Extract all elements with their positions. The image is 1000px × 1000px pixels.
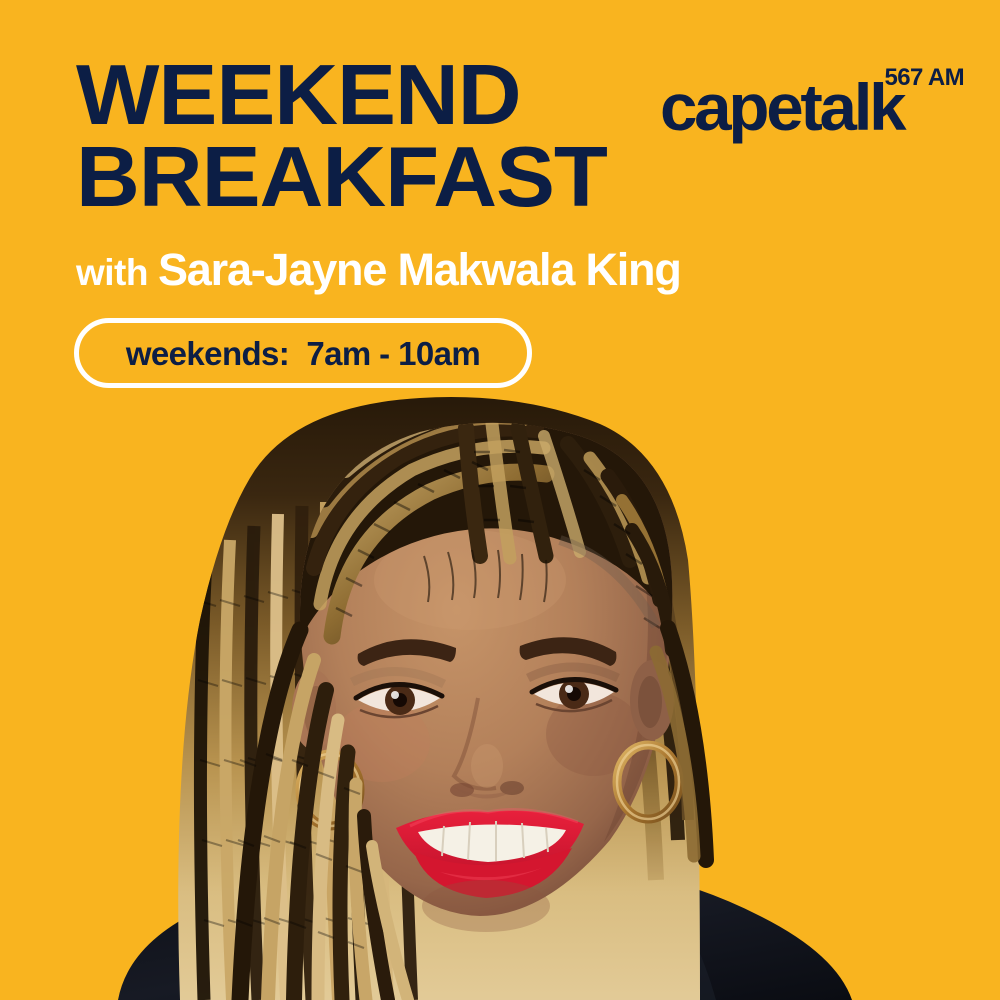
- host-name: Sara-Jayne Makwala King: [158, 247, 681, 292]
- poster-canvas: capetalk 567 AM WEEKEND BREAKFAST withSa…: [0, 0, 1000, 1000]
- hair-back: [170, 380, 710, 1000]
- show-title-line-1: WEEKEND: [76, 55, 607, 137]
- host-credit: withSara-Jayne Makwala King: [76, 247, 681, 292]
- blazer: [118, 864, 852, 1000]
- earring-hoop-left: [300, 754, 360, 826]
- nose: [450, 698, 524, 799]
- ear-left: [292, 670, 336, 750]
- capetalk-wordmark: capetalk: [660, 74, 903, 140]
- eye-left: [352, 671, 444, 717]
- eye-right: [528, 667, 618, 711]
- show-title: WEEKEND BREAKFAST: [76, 55, 586, 220]
- capetalk-logo: capetalk 567 AM: [660, 60, 970, 140]
- show-title-line-2: BREAKFAST: [76, 137, 607, 219]
- capetalk-frequency: 567 AM: [884, 66, 964, 90]
- mouth: [396, 810, 584, 898]
- hair-cornrows: [300, 406, 675, 650]
- hair-front-left: [236, 630, 408, 1000]
- neck: [398, 786, 566, 986]
- ear-right: [630, 660, 674, 740]
- schedule-badge: weekends: 7am - 10am: [74, 318, 532, 388]
- earring-hoop-right: [617, 745, 679, 819]
- hair-front-right: [656, 628, 706, 860]
- face: [300, 423, 672, 916]
- host-prefix: with: [76, 252, 148, 293]
- eyebrows: [358, 637, 617, 666]
- schedule-badge-text: weekends: 7am - 10am: [126, 337, 480, 370]
